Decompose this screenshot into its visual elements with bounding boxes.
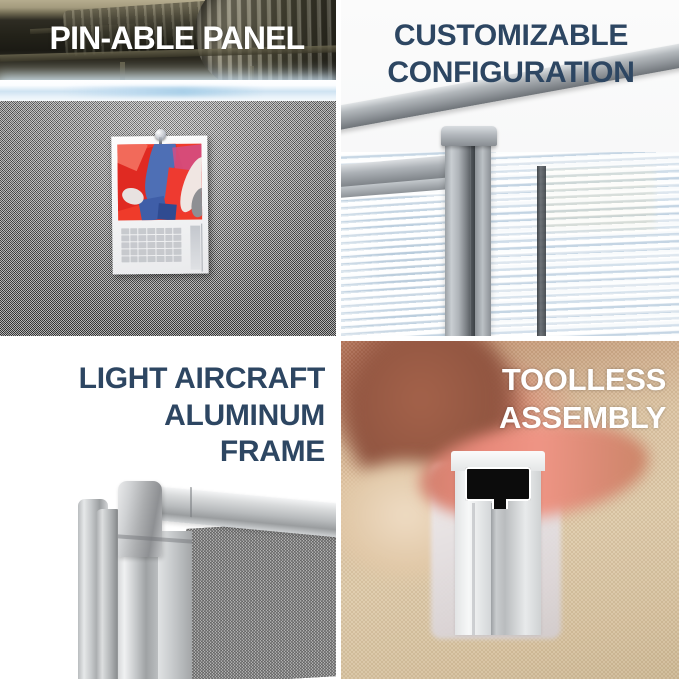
aluminum-mullion: [537, 166, 546, 336]
photo-toolless-assembly: [341, 341, 679, 679]
aluminum-post: [118, 539, 158, 679]
photo-aluminum-frame: [0, 341, 336, 679]
wall-calendar: [111, 136, 208, 275]
panel-light-aircraft-aluminum-frame: LIGHT AIRCRAFT ALUMINUM FRAME: [0, 341, 336, 679]
calendar-month-label: [190, 226, 200, 270]
feature-collage: PIN-ABLE PANEL CUSTOMIZABLE CONFIGURATIO…: [0, 0, 679, 679]
push-pin-icon: [155, 129, 166, 140]
extrusion-channel: [465, 467, 531, 501]
calendar-fold: [201, 224, 203, 272]
calendar-artwork: [117, 144, 202, 221]
grey-fabric-panel: [186, 520, 336, 679]
panel-customizable-configuration: CUSTOMIZABLE CONFIGURATION: [341, 0, 679, 336]
extrusion-groove: [491, 503, 496, 635]
post-groove: [471, 140, 475, 336]
rail-seam: [190, 487, 192, 517]
panel-toolless-assembly: TOOLLESS ASSEMBLY: [341, 341, 679, 679]
photo-customizable-configuration: [341, 0, 679, 336]
post-cap-icon: [441, 126, 497, 146]
aluminum-corner-cap-icon: [118, 481, 162, 557]
warehouse-ceiling: [0, 0, 336, 84]
calendar-date-grid: [121, 228, 181, 265]
photo-pin-able-panel: [0, 0, 336, 336]
glass-panel-left: [341, 196, 449, 336]
panel-pin-able-panel: PIN-ABLE PANEL: [0, 0, 336, 336]
extrusion-groove: [472, 503, 475, 635]
aluminum-corner-post: [445, 136, 491, 336]
